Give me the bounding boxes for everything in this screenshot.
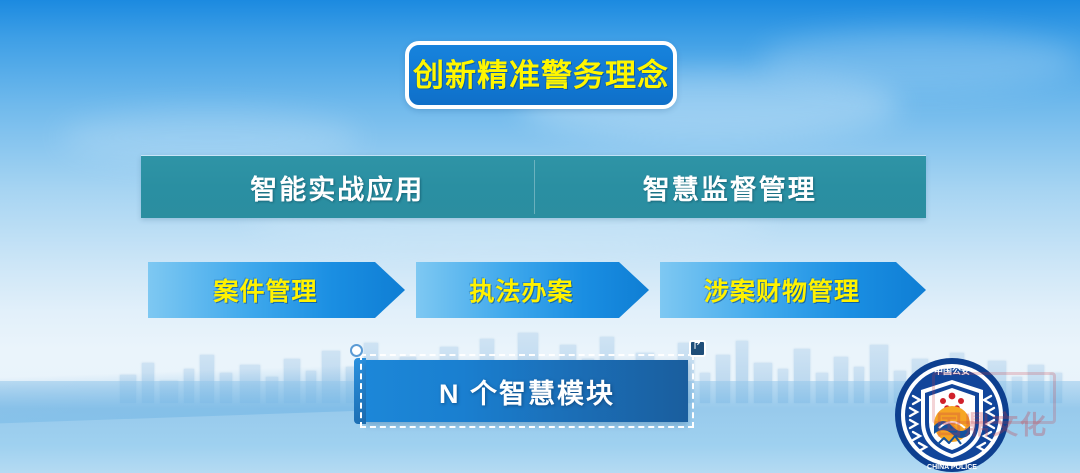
category-cell-smart-supervision[interactable]: 智慧监督管理 <box>534 156 927 218</box>
slide-title-banner: 创新精准警务理念 <box>405 41 677 109</box>
chevron-label: 案件管理 <box>213 272 339 308</box>
bottom-module-bar[interactable]: N 个智慧模块 <box>366 360 688 422</box>
badge-bottom-text: CHINA POLICE <box>927 464 977 471</box>
selection-handle-top-left[interactable] <box>350 344 363 357</box>
police-emblem-icon: 中国公安 CHINA POLICE <box>893 356 1011 473</box>
category-label: 智能实战应用 <box>250 168 424 207</box>
chevron-case-management[interactable]: 案件管理 <box>148 262 405 318</box>
slide-canvas: 创新精准警务理念 智能实战应用 智慧监督管理 案件管理 执法办案 涉案财物管理 … <box>0 0 1080 473</box>
slide-title-text: 创新精准警务理念 <box>413 60 669 91</box>
chevron-process-row: 案件管理 执法办案 涉案财物管理 <box>148 262 938 318</box>
chevron-label: 执法办案 <box>469 272 595 308</box>
bottom-module-shape[interactable]: N 个智慧模块 <box>366 360 688 422</box>
rotate-handle-icon[interactable] <box>689 340 706 357</box>
category-band: 智能实战应用 智慧监督管理 <box>141 155 926 218</box>
bottom-module-label: N 个智慧模块 <box>439 372 615 411</box>
chevron-label: 涉案财物管理 <box>704 272 882 308</box>
cloud-decoration <box>760 30 1080 90</box>
category-label: 智慧监督管理 <box>643 168 817 207</box>
chevron-law-enforcement-handling[interactable]: 执法办案 <box>416 262 649 318</box>
chevron-case-property-management[interactable]: 涉案财物管理 <box>660 262 926 318</box>
badge-top-text: 中国公安 <box>934 365 970 376</box>
shape-left-tab <box>354 358 366 424</box>
category-cell-intelligent-application[interactable]: 智能实战应用 <box>141 156 534 218</box>
